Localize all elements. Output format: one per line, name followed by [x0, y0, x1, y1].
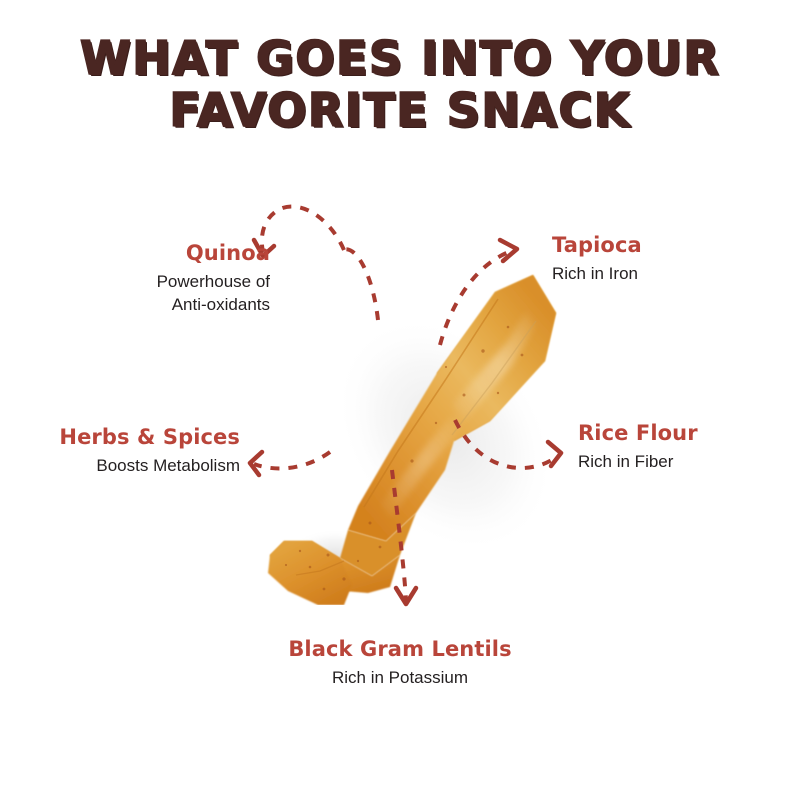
- snack-chip-svg: [240, 255, 570, 605]
- ingredient-desc-quinoa-line1: Powerhouse of: [20, 270, 270, 293]
- ingredient-desc-black-gram-lentils: Rich in Potassium: [240, 666, 560, 689]
- ingredient-name-quinoa: Quinoa: [20, 240, 270, 266]
- title-line-1: WHAT GOES INTO YOUR: [0, 32, 800, 84]
- ingredient-name-rice-flour: Rice Flour: [578, 420, 798, 446]
- ingredient-label-quinoa: Quinoa Powerhouse of Anti-oxidants: [20, 240, 270, 316]
- title-line-2: FAVORITE SNACK: [0, 84, 800, 136]
- ingredient-desc-rice-flour: Rich in Fiber: [578, 450, 798, 473]
- ingredient-label-herbs-spices: Herbs & Spices Boosts Metabolism: [10, 424, 240, 477]
- ingredient-label-black-gram-lentils: Black Gram Lentils Rich in Potassium: [240, 636, 560, 689]
- ingredient-name-tapioca: Tapioca: [552, 232, 782, 258]
- ingredient-name-herbs-spices: Herbs & Spices: [10, 424, 240, 450]
- arrow-path-quinoa: [262, 206, 344, 252]
- snack-chip-image: [240, 255, 570, 605]
- ingredient-name-black-gram-lentils: Black Gram Lentils: [240, 636, 560, 662]
- ingredient-desc-herbs-spices: Boosts Metabolism: [10, 454, 240, 477]
- ingredient-desc-tapioca: Rich in Iron: [552, 262, 782, 285]
- ingredient-label-tapioca: Tapioca Rich in Iron: [552, 232, 782, 285]
- ingredient-label-rice-flour: Rice Flour Rich in Fiber: [578, 420, 798, 473]
- ingredient-desc-quinoa-line2: Anti-oxidants: [20, 293, 270, 316]
- page-title: WHAT GOES INTO YOUR FAVORITE SNACK: [0, 32, 800, 136]
- infographic-canvas: WHAT GOES INTO YOUR FAVORITE SNACK: [0, 0, 800, 800]
